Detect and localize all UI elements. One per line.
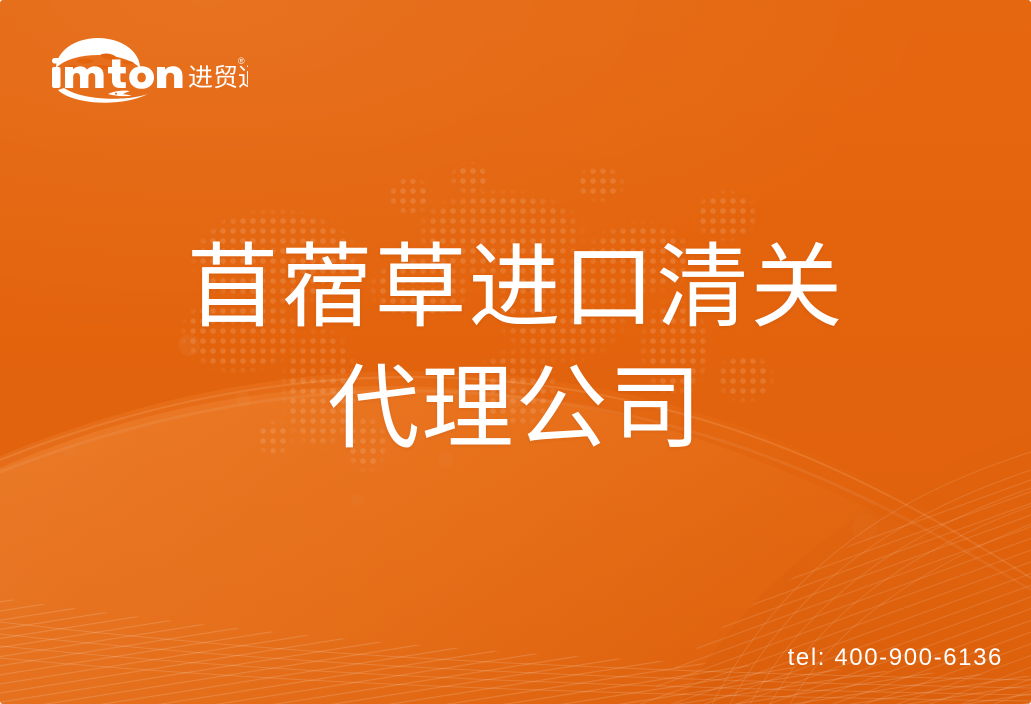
headline-line-2: 代理公司: [0, 349, 1031, 470]
page-title: 苜蓿草进口清关 代理公司: [0, 228, 1031, 471]
logo-trademark: ®: [238, 56, 245, 66]
bokeh-dot: [852, 514, 878, 540]
bokeh-dot: [498, 378, 528, 408]
logo-chinese-name: 进贸通: [188, 63, 248, 92]
globe-arc-icon: [56, 38, 140, 69]
swoosh-bird-icon: [58, 88, 148, 103]
background-sheen: [0, 0, 1031, 704]
promo-banner: 进贸通 ® 苜蓿草进口清关 代理公司 tel: 400-900-6136: [0, 0, 1031, 704]
dotted-world-map: [170, 138, 800, 488]
wave-decoration: [0, 0, 1031, 704]
contact-phone[interactable]: tel: 400-900-6136: [788, 644, 1003, 672]
bokeh-dot: [438, 452, 454, 468]
bokeh-dot: [352, 494, 364, 506]
headline-line-1: 苜蓿草进口清关: [0, 228, 1031, 349]
company-logo[interactable]: 进贸通 ®: [38, 28, 248, 104]
bokeh-dot: [64, 446, 76, 458]
logo-wordmark: [52, 58, 183, 89]
bokeh-dot: [178, 334, 200, 356]
bokeh-dot: [236, 392, 250, 406]
